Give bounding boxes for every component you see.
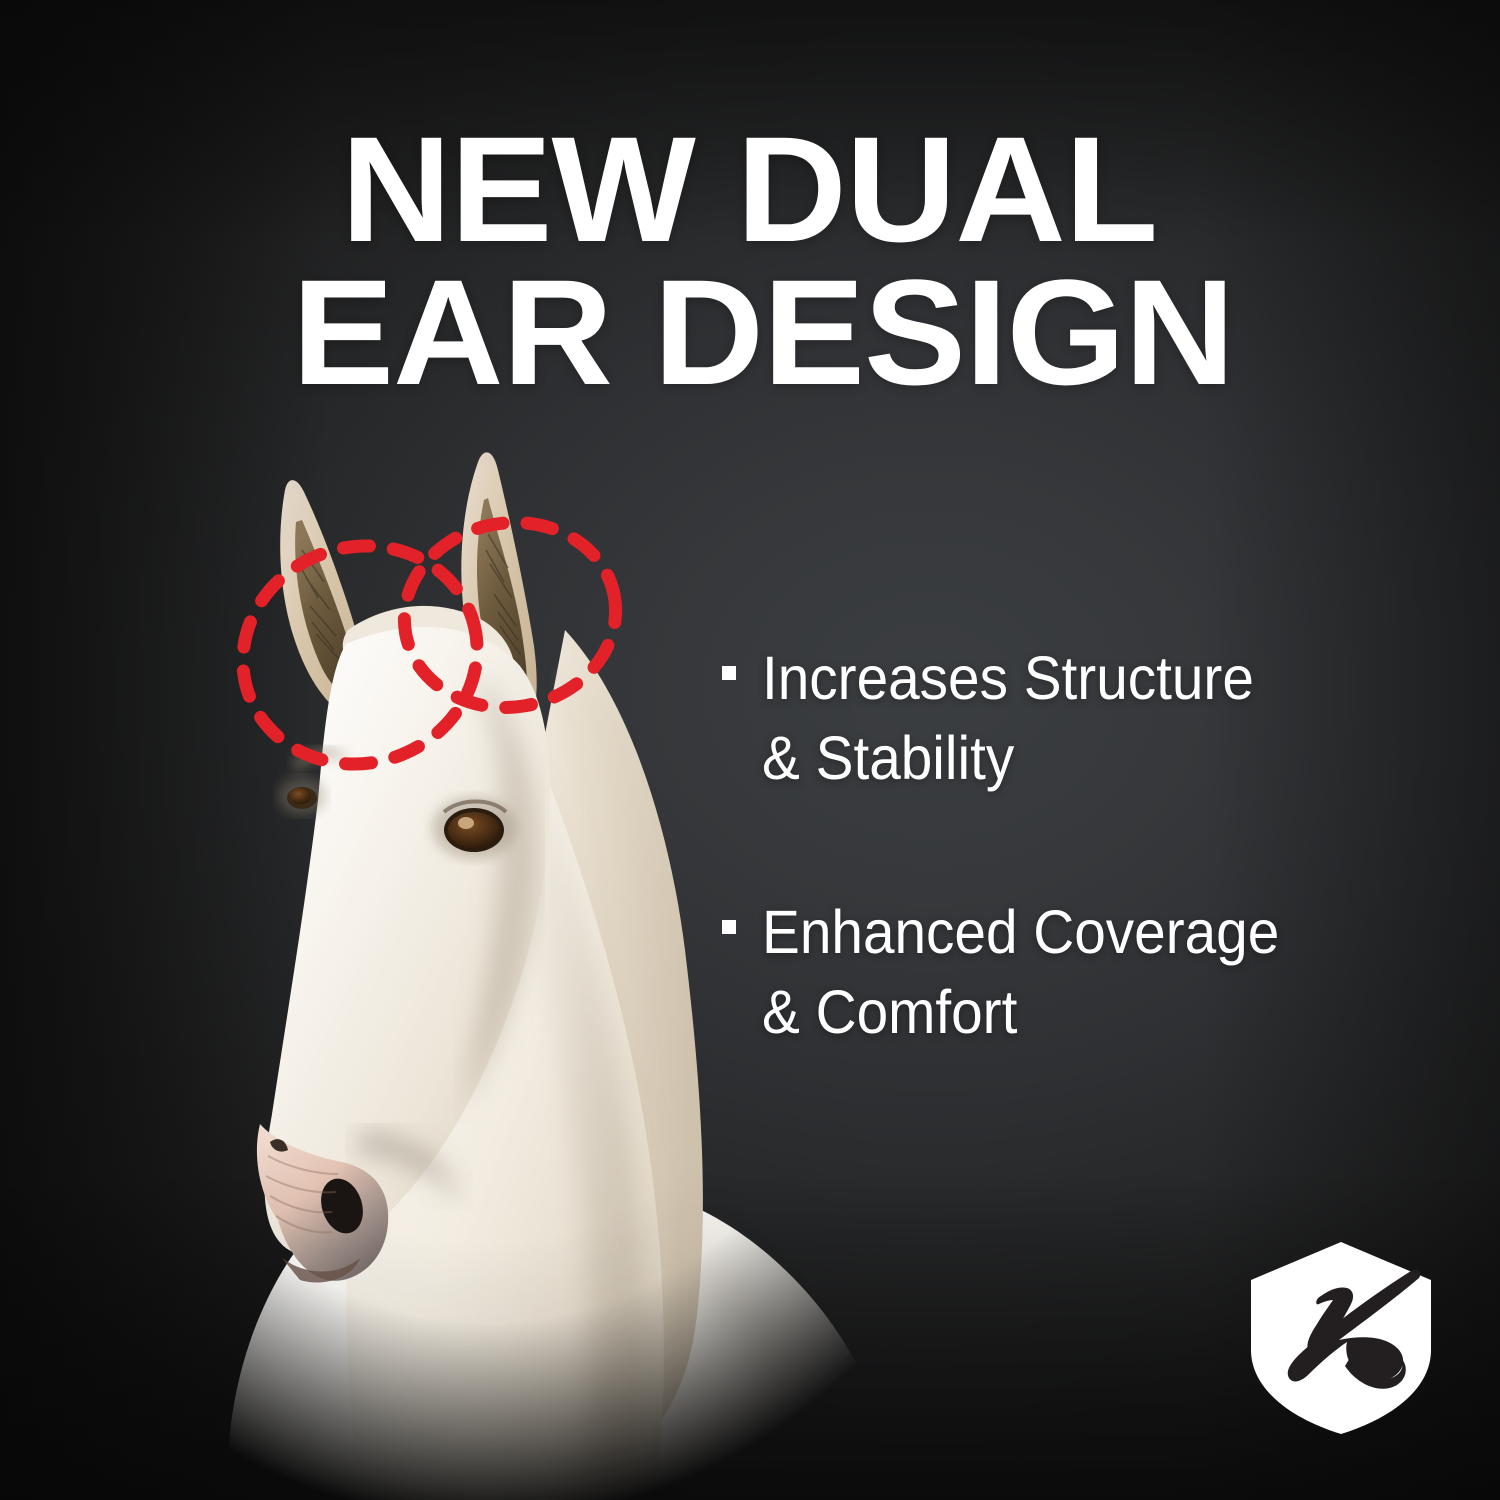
page-title: NEW DUAL EAR DESIGN [292,118,1271,404]
square-bullet-icon [722,666,736,680]
feature-list: Increases Structure & Stability Enhanced… [722,638,1422,1052]
horse-eye-right [432,797,516,859]
headline-line-2: EAR DESIGN [292,261,1271,404]
feature-text: Increases Structure & Stability [762,638,1254,798]
brand-logo [1243,1238,1439,1438]
list-item: Enhanced Coverage & Comfort [722,892,1422,1052]
list-item: Increases Structure & Stability [722,638,1422,798]
horse-eye-left [278,777,326,815]
feature-text: Enhanced Coverage & Comfort [762,892,1279,1052]
headline-line-1: NEW DUAL [292,118,1271,261]
square-bullet-icon [722,920,736,934]
promo-banner: NEW DUAL EAR DESIGN Increases Structure … [0,0,1500,1500]
